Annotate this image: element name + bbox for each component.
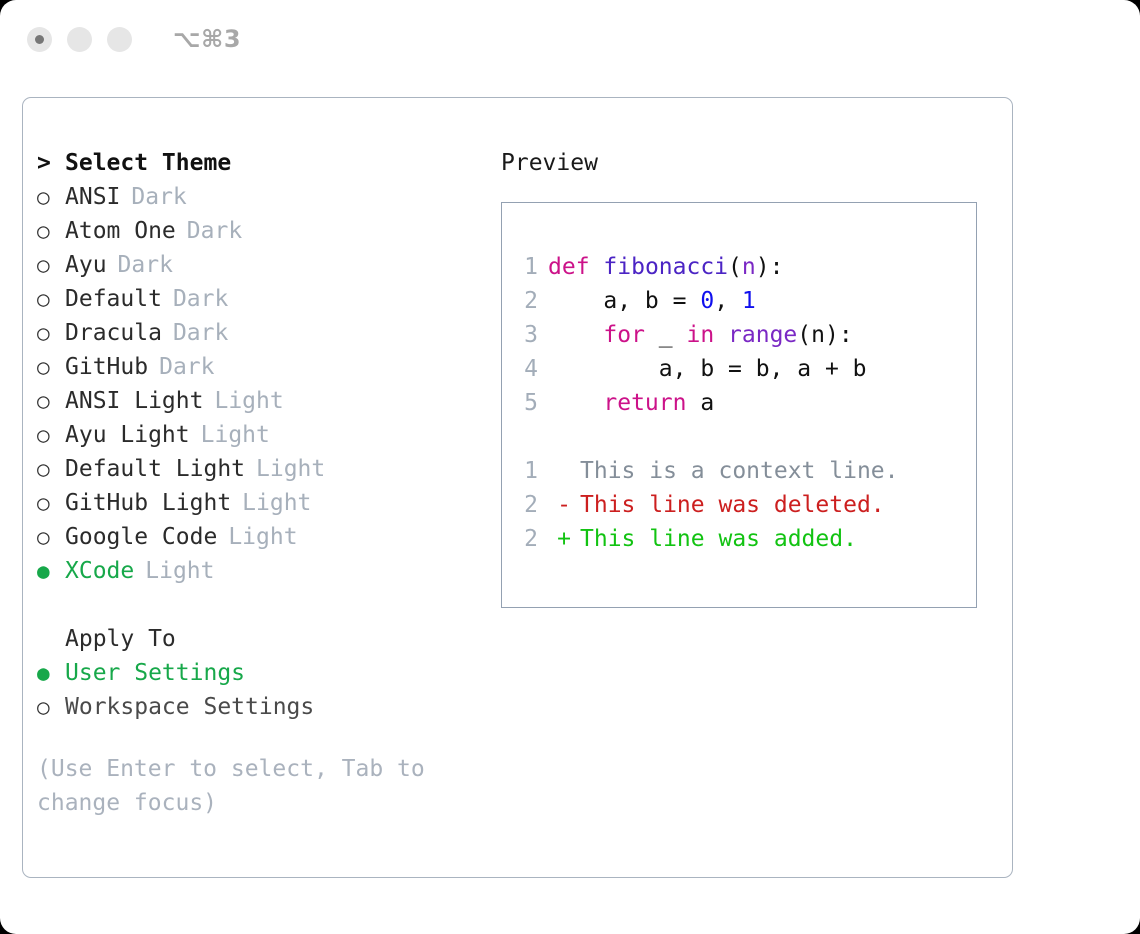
radio-unselected-icon[interactable]: ○ <box>37 316 65 350</box>
code-token: for <box>603 322 645 348</box>
code-token: n <box>742 254 756 280</box>
code-line: 3 for _ in range(n): <box>518 318 867 352</box>
radio-unselected-icon[interactable]: ○ <box>37 214 65 248</box>
diff-text: This line was added. <box>580 526 857 552</box>
theme-variant-badge: Dark <box>159 350 214 384</box>
diff-line: 1This is a context line. <box>518 454 899 488</box>
keyboard-shortcut-label: ⌥⌘3 <box>173 25 241 53</box>
apply-to-marker-placeholder: ○ <box>37 622 65 656</box>
preview-box: 1def fibonacci(n):2 a, b = 0, 13 for _ i… <box>501 202 977 608</box>
code-line: 2 a, b = 0, 1 <box>518 284 867 318</box>
code-line-number: 1 <box>518 250 538 284</box>
theme-name: Ayu Light <box>65 418 190 452</box>
code-token: _ <box>645 322 687 348</box>
code-line: 5 return a <box>518 386 867 420</box>
radio-unselected-icon[interactable]: ○ <box>37 690 65 724</box>
theme-list-item[interactable]: ●XCodeLight <box>37 554 497 588</box>
diff-marker: + <box>548 522 580 556</box>
list-spacer <box>37 588 497 622</box>
theme-list-item[interactable]: ○AyuDark <box>37 248 497 282</box>
theme-list-item[interactable]: ○ANSI LightLight <box>37 384 497 418</box>
radio-unselected-icon[interactable]: ○ <box>37 248 65 282</box>
diff-line: 2+This line was added. <box>518 522 899 556</box>
radio-unselected-icon[interactable]: ○ <box>37 384 65 418</box>
diff-line: 2-This line was deleted. <box>518 488 899 522</box>
code-token <box>590 254 604 280</box>
code-token <box>548 390 603 416</box>
code-token: return <box>603 390 686 416</box>
apply-to-option[interactable]: ●User Settings <box>37 656 497 690</box>
code-token: (n): <box>797 322 852 348</box>
theme-name: Atom One <box>65 214 176 248</box>
apply-to-option-label: User Settings <box>65 656 245 690</box>
radio-unselected-icon[interactable]: ○ <box>37 418 65 452</box>
theme-variant-badge: Dark <box>187 214 242 248</box>
code-token: def <box>548 254 590 280</box>
panel-columns: > Select Theme ○ANSIDark○Atom OneDark○Ay… <box>23 98 1012 877</box>
theme-list-item[interactable]: ○ANSIDark <box>37 180 497 214</box>
theme-name: Ayu <box>65 248 107 282</box>
code-token: 1 <box>742 288 756 314</box>
radio-unselected-icon[interactable]: ○ <box>37 282 65 316</box>
theme-variant-badge: Dark <box>118 248 173 282</box>
theme-name: XCode <box>65 554 134 588</box>
theme-list-item[interactable]: ○Atom OneDark <box>37 214 497 248</box>
diff-line-number: 1 <box>518 454 538 488</box>
radio-selected-icon[interactable]: ● <box>37 554 65 588</box>
theme-list: ○ANSIDark○Atom OneDark○AyuDark○DefaultDa… <box>37 180 497 588</box>
theme-variant-badge: Dark <box>173 316 228 350</box>
app-window: ⌥⌘3 > Select Theme ○ANSIDark○Atom OneDar… <box>0 0 1140 934</box>
theme-variant-badge: Dark <box>131 180 186 214</box>
radio-unselected-icon[interactable]: ○ <box>37 452 65 486</box>
theme-name: ANSI Light <box>65 384 203 418</box>
theme-variant-badge: Light <box>228 520 297 554</box>
theme-name: GitHub <box>65 350 148 384</box>
code-token <box>548 322 603 348</box>
code-token: a, b = <box>548 288 700 314</box>
code-line: 4 a, b = b, a + b <box>518 352 867 386</box>
main-panel: > Select Theme ○ANSIDark○Atom OneDark○Ay… <box>22 97 1013 878</box>
theme-list-item[interactable]: ○Google CodeLight <box>37 520 497 554</box>
code-line-number: 3 <box>518 318 538 352</box>
theme-list-item[interactable]: ○GitHubDark <box>37 350 497 384</box>
code-token: a <box>686 390 714 416</box>
code-line-number: 2 <box>518 284 538 318</box>
code-preview: 1def fibonacci(n):2 a, b = 0, 13 for _ i… <box>518 250 867 420</box>
theme-name: Google Code <box>65 520 217 554</box>
code-token: , <box>714 288 742 314</box>
theme-list-item[interactable]: ○DraculaDark <box>37 316 497 350</box>
code-token: fibonacci <box>603 254 728 280</box>
code-token: in <box>686 322 714 348</box>
window-dot-icon[interactable] <box>107 27 132 52</box>
title-bar: ⌥⌘3 <box>0 0 1140 78</box>
window-controls <box>27 27 132 52</box>
preview-label: Preview <box>501 146 1001 180</box>
code-token: a, b = b, a + b <box>548 356 867 382</box>
prompt-caret-icon: > <box>37 146 65 180</box>
diff-preview: 1This is a context line.2-This line was … <box>518 454 899 556</box>
theme-list-item[interactable]: ○GitHub LightLight <box>37 486 497 520</box>
apply-to-title: Apply To <box>65 622 176 656</box>
apply-to-header: ○ Apply To <box>37 622 497 656</box>
theme-name: ANSI <box>65 180 120 214</box>
diff-text: This is a context line. <box>580 458 899 484</box>
radio-selected-icon[interactable]: ● <box>37 656 65 690</box>
code-line-number: 4 <box>518 352 538 386</box>
radio-unselected-icon[interactable]: ○ <box>37 180 65 214</box>
theme-variant-badge: Dark <box>173 282 228 316</box>
radio-unselected-icon[interactable]: ○ <box>37 520 65 554</box>
code-token: ): <box>756 254 784 280</box>
theme-name: Dracula <box>65 316 162 350</box>
theme-name: GitHub Light <box>65 486 231 520</box>
diff-line-number: 2 <box>518 522 538 556</box>
select-theme-title: Select Theme <box>65 146 231 180</box>
code-token: range <box>728 322 797 348</box>
apply-to-option[interactable]: ○Workspace Settings <box>37 690 497 724</box>
theme-variant-badge: Light <box>145 554 214 588</box>
theme-variant-badge: Light <box>201 418 270 452</box>
window-dot-icon[interactable] <box>67 27 92 52</box>
theme-name: Default <box>65 282 162 316</box>
theme-list-item[interactable]: ○DefaultDark <box>37 282 497 316</box>
code-token: ( <box>728 254 742 280</box>
theme-selector-column: > Select Theme ○ANSIDark○Atom OneDark○Ay… <box>37 146 497 820</box>
apply-to-option-label: Workspace Settings <box>65 690 314 724</box>
theme-list-item[interactable]: ○Default LightLight <box>37 452 497 486</box>
theme-name: Default Light <box>65 452 245 486</box>
window-dot-active-icon[interactable] <box>27 27 52 52</box>
code-line-number: 5 <box>518 386 538 420</box>
preview-column: Preview 1def fibonacci(n):2 a, b = 0, 13… <box>501 146 1001 608</box>
diff-text: This line was deleted. <box>580 492 885 518</box>
code-token <box>714 322 728 348</box>
diff-line-number: 2 <box>518 488 538 522</box>
theme-list-item[interactable]: ○Ayu LightLight <box>37 418 497 452</box>
radio-unselected-icon[interactable]: ○ <box>37 486 65 520</box>
theme-variant-badge: Light <box>256 452 325 486</box>
code-token: 0 <box>700 288 714 314</box>
help-text: (Use Enter to select, Tab to change focu… <box>37 752 447 820</box>
theme-variant-badge: Light <box>214 384 283 418</box>
theme-variant-badge: Light <box>242 486 311 520</box>
code-line: 1def fibonacci(n): <box>518 250 867 284</box>
apply-to-list: ●User Settings○Workspace Settings <box>37 656 497 724</box>
radio-unselected-icon[interactable]: ○ <box>37 350 65 384</box>
window-dot-inner <box>35 35 44 44</box>
diff-marker: - <box>548 488 580 522</box>
select-theme-header: > Select Theme <box>37 146 497 180</box>
